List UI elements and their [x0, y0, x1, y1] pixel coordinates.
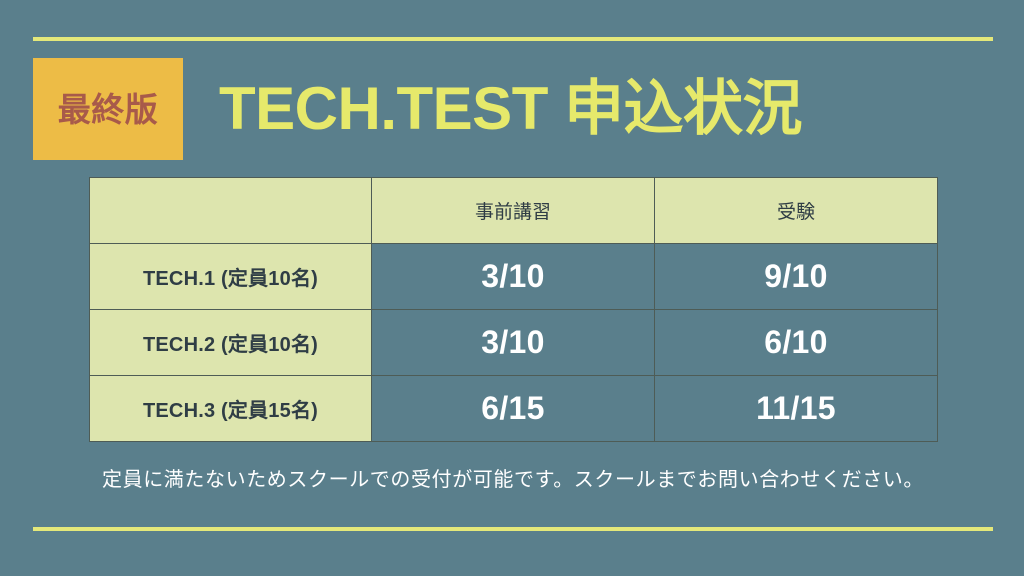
- table-cell-tech3-exam: 11/15: [655, 376, 938, 442]
- slide-header: 最終版 TECH.TEST 申込状況: [33, 58, 993, 160]
- status-badge: 最終版: [33, 58, 183, 160]
- table-cell-tech2-pretraining: 3/10: [372, 310, 655, 376]
- table-column-header-exam: 受験: [655, 178, 938, 244]
- status-badge-label: 最終版: [58, 93, 159, 126]
- footnote-text: 定員に満たないためスクールでの受付が可能です。スクールまでお問い合わせください。: [33, 468, 993, 492]
- slide-canvas: 最終版 TECH.TEST 申込状況 事前講習 受験 TECH.1 (定員10名…: [0, 0, 1024, 576]
- table-column-header-pretraining: 事前講習: [372, 178, 655, 244]
- table-cell-tech1-pretraining: 3/10: [372, 244, 655, 310]
- enrollment-table: 事前講習 受験 TECH.1 (定員10名) 3/10 9/10 TECH.2 …: [89, 177, 938, 442]
- table-corner-header: [90, 178, 372, 244]
- bottom-accent-rule: [33, 527, 993, 531]
- table-row: TECH.3 (定員15名) 6/15 11/15: [90, 376, 938, 442]
- table-row: TECH.1 (定員10名) 3/10 9/10: [90, 244, 938, 310]
- enrollment-table-wrapper: 事前講習 受験 TECH.1 (定員10名) 3/10 9/10 TECH.2 …: [89, 177, 937, 441]
- top-accent-rule: [33, 37, 993, 41]
- table-cell-tech3-pretraining: 6/15: [372, 376, 655, 442]
- table-cell-tech1-exam: 9/10: [655, 244, 938, 310]
- table-row: TECH.2 (定員10名) 3/10 6/10: [90, 310, 938, 376]
- table-row-label-tech1: TECH.1 (定員10名): [90, 244, 372, 310]
- table-cell-tech2-exam: 6/10: [655, 310, 938, 376]
- table-row-label-tech3: TECH.3 (定員15名): [90, 376, 372, 442]
- table-row-label-tech2: TECH.2 (定員10名): [90, 310, 372, 376]
- page-title: TECH.TEST 申込状況: [219, 79, 802, 139]
- table-header-row: 事前講習 受験: [90, 178, 938, 244]
